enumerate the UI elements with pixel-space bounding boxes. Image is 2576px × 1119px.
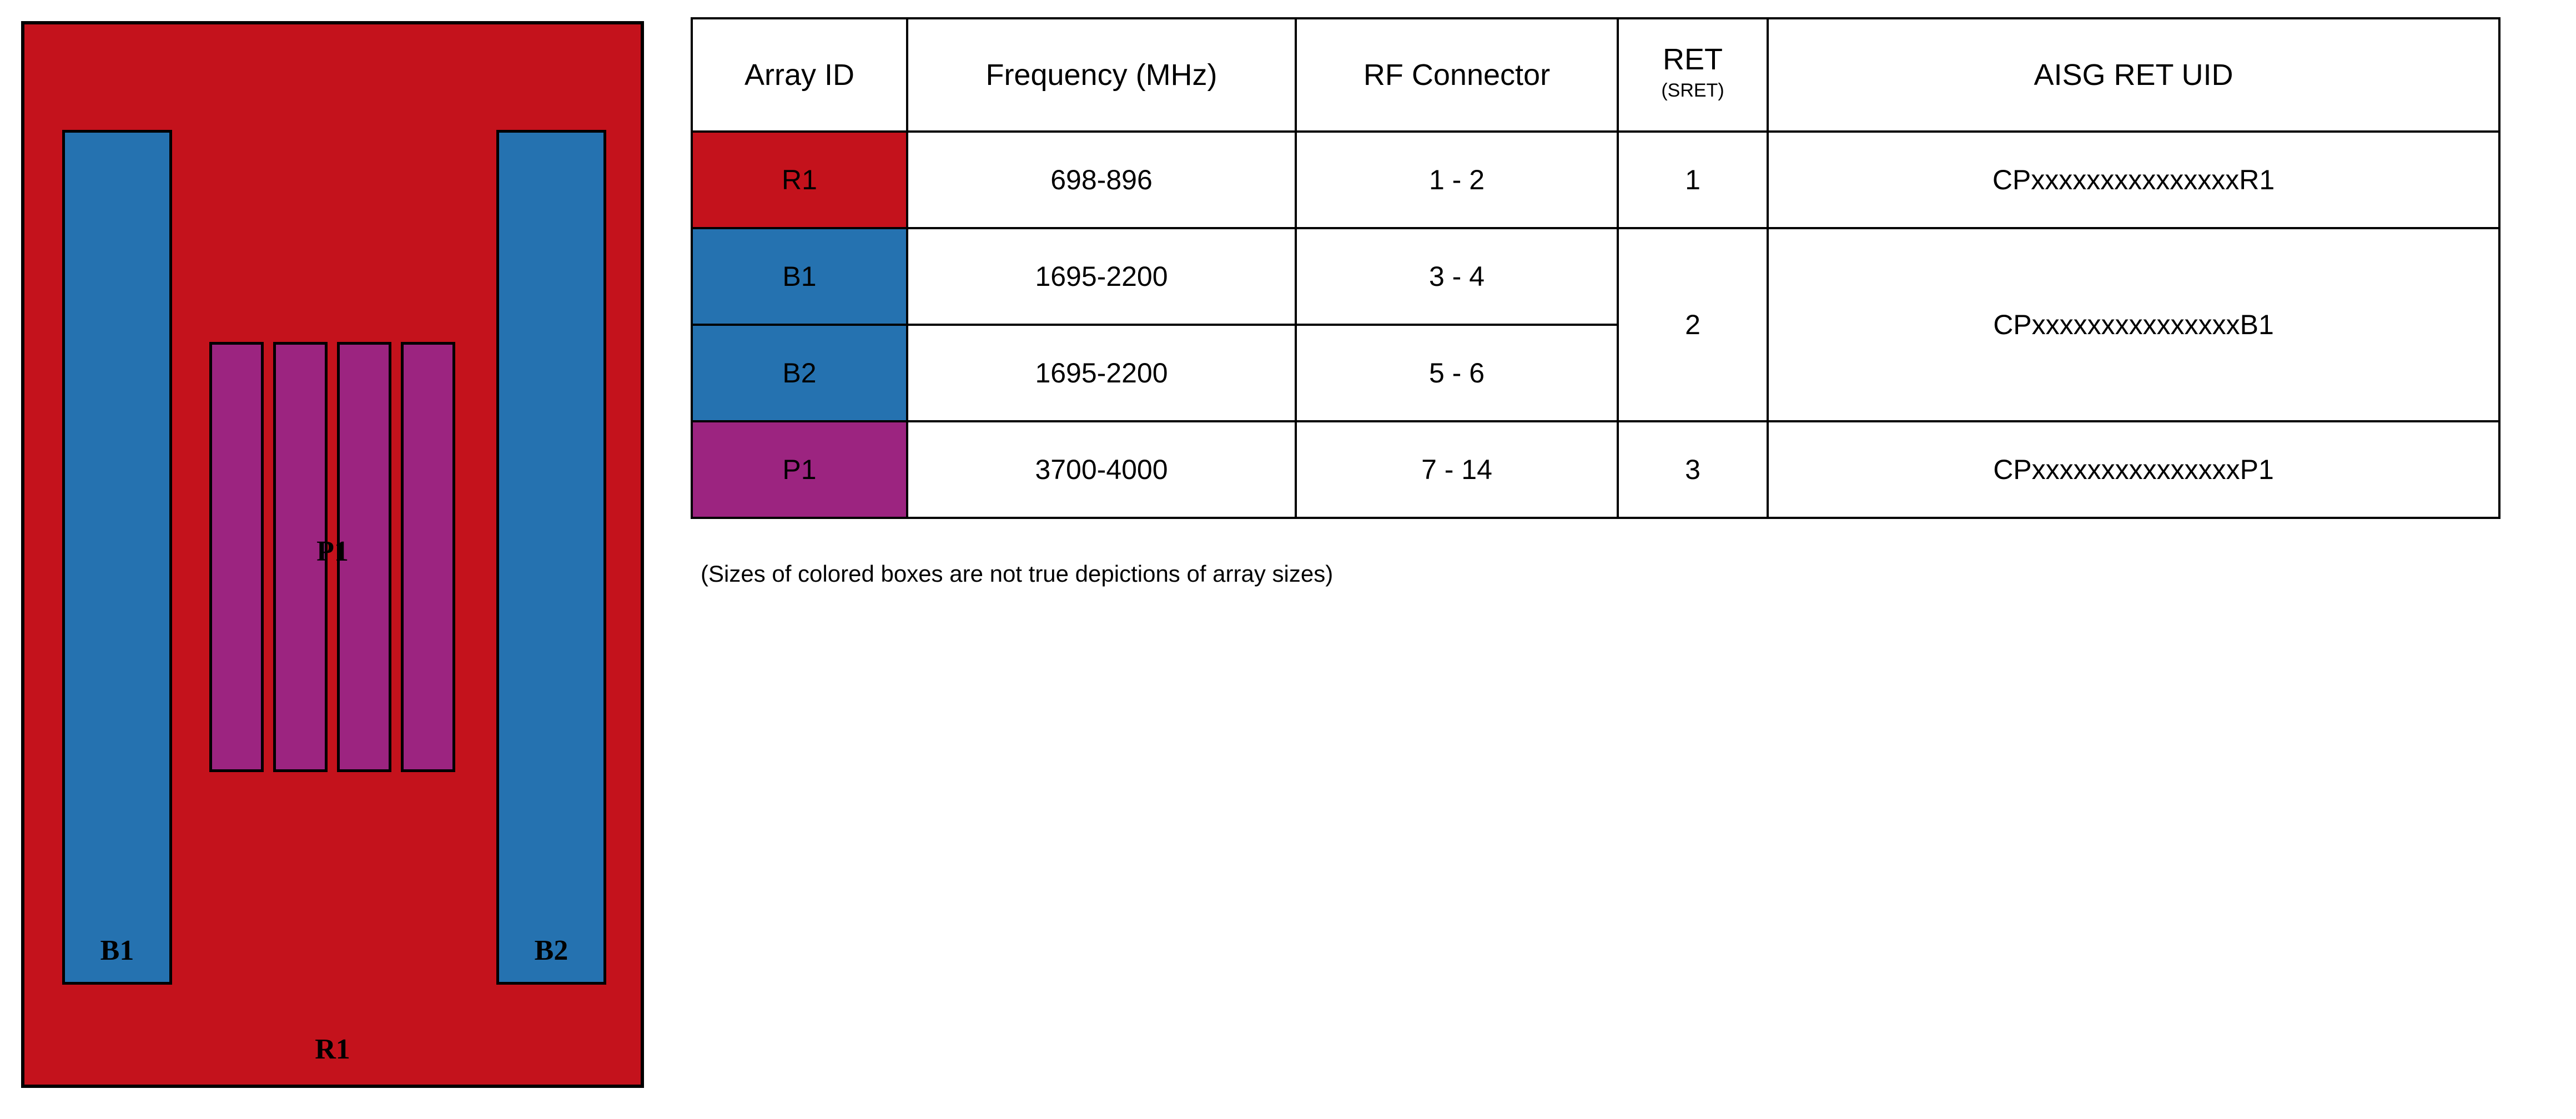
array-block-b2-label: B2 [535,936,568,965]
cell-aisg-uid-b1-b2: CPxxxxxxxxxxxxxxxB1 [1768,228,2499,421]
cell-rf-connector-b2: 5 - 6 [1296,325,1618,421]
cell-array-id-b2: B2 [692,325,907,421]
array-spec-table: Array ID Frequency (MHz) RF Connector RE… [691,17,2500,519]
cell-rf-connector-p1: 7 - 14 [1296,421,1618,518]
table-header-row: Array ID Frequency (MHz) RF Connector RE… [692,18,2499,132]
column-header-frequency: Frequency (MHz) [907,18,1296,132]
cell-ret-b1-b2: 2 [1618,228,1768,421]
cell-ret-r1: 1 [1618,132,1768,228]
column-header-rf-connector: RF Connector [1296,18,1618,132]
cell-rf-connector-b1: 3 - 4 [1296,228,1618,325]
table-row: R1 698-896 1 - 2 1 CPxxxxxxxxxxxxxxxR1 [692,132,2499,228]
array-block-p1-label: P1 [24,535,641,568]
column-header-ret-sublabel: (SRET) [1619,75,1767,105]
cell-rf-connector-r1: 1 - 2 [1296,132,1618,228]
column-header-array-id: Array ID [692,18,907,132]
column-header-aisg-ret-uid: AISG RET UID [1768,18,2499,132]
cell-aisg-uid-p1: CPxxxxxxxxxxxxxxxP1 [1768,421,2499,518]
table-footnote: (Sizes of colored boxes are not true dep… [701,561,1333,587]
cell-array-id-r1: R1 [692,132,907,228]
array-spec-table-wrapper: Array ID Frequency (MHz) RF Connector RE… [691,17,2498,519]
table-row: P1 3700-4000 7 - 14 3 CPxxxxxxxxxxxxxxxP… [692,421,2499,518]
table-row: B1 1695-2200 3 - 4 2 CPxxxxxxxxxxxxxxxB1 [692,228,2499,325]
column-header-ret-main: RET [1619,44,1767,75]
column-header-ret: RET (SRET) [1618,18,1768,132]
cell-array-id-p1: P1 [692,421,907,518]
cell-ret-p1: 3 [1618,421,1768,518]
cell-frequency-b1: 1695-2200 [907,228,1296,325]
array-block-b1-label: B1 [100,936,134,965]
cell-frequency-r1: 698-896 [907,132,1296,228]
cell-array-id-b1: B1 [692,228,907,325]
cell-frequency-b2: 1695-2200 [907,325,1296,421]
cell-aisg-uid-r1: CPxxxxxxxxxxxxxxxR1 [1768,132,2499,228]
antenna-panel-diagram: B1 P1 B2 R1 [21,21,644,1088]
cell-frequency-p1: 3700-4000 [907,421,1296,518]
antenna-panel-label: R1 [24,1033,641,1066]
